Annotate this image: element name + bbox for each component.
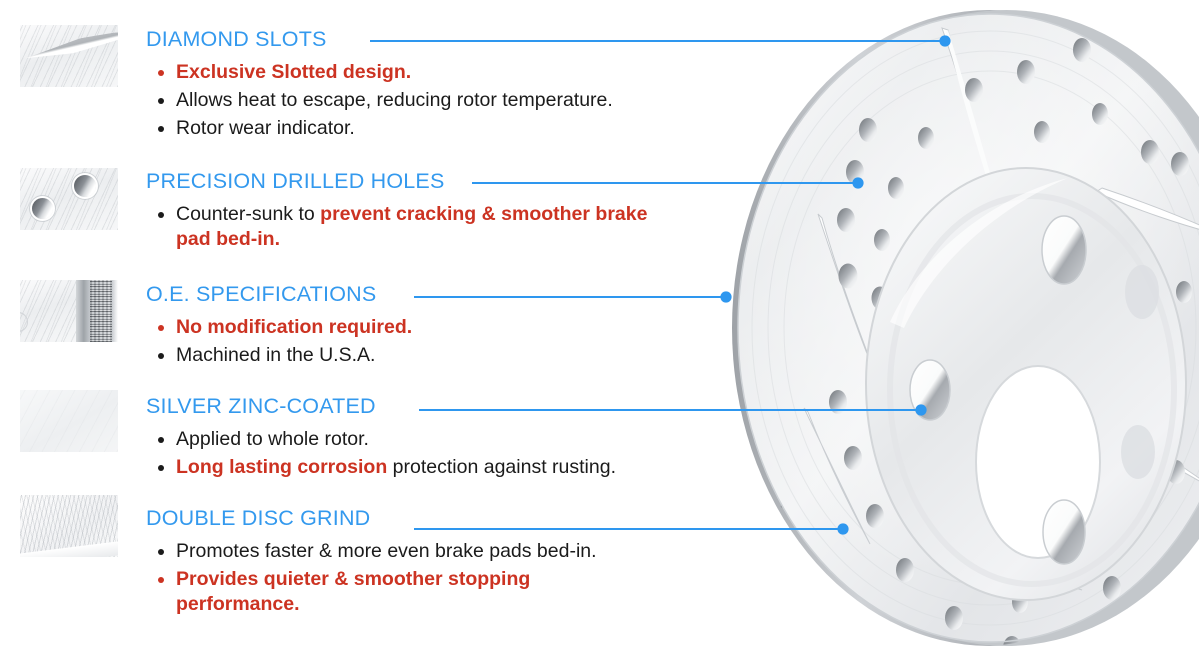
brake-rotor-image [690,0,1199,656]
feature-bullet-list: Promotes faster & more even brake pads b… [146,539,597,617]
bullet-item: Long lasting corrosion protection agains… [146,455,616,480]
feature-diamond-slots: DIAMOND SLOTS Exclusive Slotted design. … [146,29,613,144]
thumb-drilled-holes [20,168,118,230]
bullet-item: Applied to whole rotor. [146,427,616,452]
bullet-item: Allows heat to escape, reducing rotor te… [146,88,613,113]
infographic-page: DIAMOND SLOTS Exclusive Slotted design. … [0,0,1199,656]
bullet-item: Provides quieter & smoother stopping per… [146,567,576,617]
feature-bullet-list: No modification required. Machined in th… [146,315,412,368]
internal-vane-texture [90,280,112,342]
thumb-texture [20,390,118,452]
feature-precision-drilled-holes: PRECISION DRILLED HOLES Counter-sunk to … [146,171,666,255]
bullet-text-plain: protection against rusting. [387,456,616,478]
rotor-edge-band [76,280,90,342]
feature-double-disc-grind: DOUBLE DISC GRIND Promotes faster & more… [146,508,597,620]
feature-oe-specifications: O.E. SPECIFICATIONS No modification requ… [146,284,412,371]
bullet-item: No modification required. [146,315,412,340]
feature-bullet-list: Counter-sunk to prevent cracking & smoot… [146,202,666,252]
drilled-hole-shape [74,175,96,197]
thumb-diamond-slot [20,25,118,87]
rotor-outer-edge [112,280,118,342]
bullet-item: Promotes faster & more even brake pads b… [146,539,597,564]
bullet-item: Machined in the U.S.A. [146,343,412,368]
vane-cross-section [20,280,118,342]
bullet-text-emphasis: Long lasting corrosion [176,456,387,478]
feature-heading-oe-specifications: O.E. SPECIFICATIONS [146,284,412,306]
feature-heading-double-disc-grind: DOUBLE DISC GRIND [146,508,597,530]
thumb-zinc-coating [20,390,118,452]
rotor-illustration [690,0,1199,656]
bullet-item: Exclusive Slotted design. [146,60,613,85]
drilled-hole-shape [32,198,53,219]
thumb-vented-vane [20,280,118,342]
rotor-face-texture [20,280,76,342]
feature-heading-silver-zinc-coated: SILVER ZINC-COATED [146,396,616,418]
bullet-item: Rotor wear indicator. [146,116,613,141]
bullet-item: Counter-sunk to prevent cracking & smoot… [146,202,666,252]
thumb-disc-grind [20,495,118,557]
feature-heading-precision-drilled-holes: PRECISION DRILLED HOLES [146,171,666,193]
thumb-texture [20,168,118,230]
feature-silver-zinc-coated: SILVER ZINC-COATED Applied to whole roto… [146,396,616,483]
bullet-text-plain: Counter-sunk to [176,203,320,225]
feature-bullet-list: Applied to whole rotor. Long lasting cor… [146,427,616,480]
feature-bullet-list: Exclusive Slotted design. Allows heat to… [146,60,613,141]
feature-heading-diamond-slots: DIAMOND SLOTS [146,29,613,51]
rotor-hat [866,168,1186,600]
